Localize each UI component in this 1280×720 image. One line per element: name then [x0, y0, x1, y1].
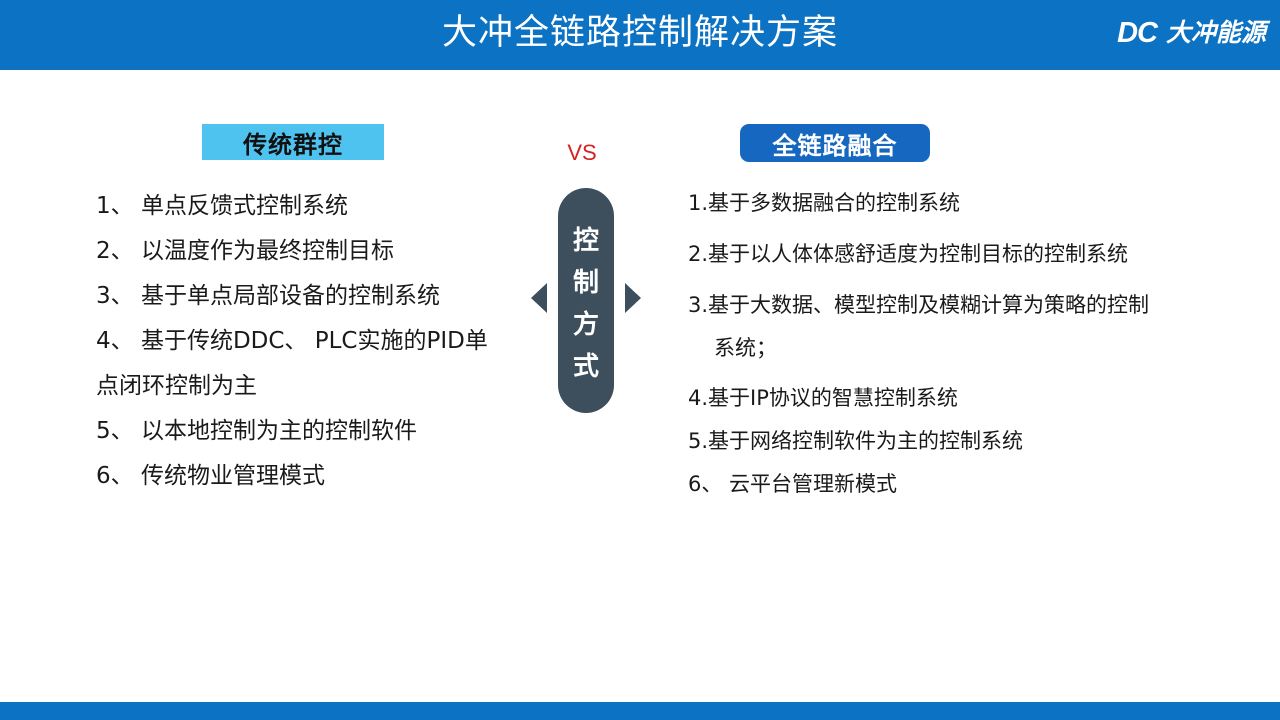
center-divider-group: 控 制 方 式	[526, 188, 648, 413]
right-column-heading: 全链路融合	[740, 124, 930, 162]
list-item: 3、 基于单点局部设备的控制系统	[96, 274, 536, 319]
list-item: 4.基于IP协议的智慧控制系统	[688, 377, 1280, 420]
list-item: 6、 传统物业管理模式	[96, 454, 536, 499]
page-title: 大冲全链路控制解决方案	[0, 7, 1280, 59]
list-item: 2.基于以人体体感舒适度为控制目标的控制系统	[688, 233, 1280, 276]
company-logo: DC 大冲能源	[1117, 16, 1266, 50]
pill-char: 制	[573, 262, 599, 304]
list-item: 1.基于多数据融合的控制系统	[688, 182, 1280, 225]
pill-char: 方	[573, 304, 599, 346]
pill-char: 控	[573, 220, 599, 262]
slide-footer	[0, 702, 1280, 720]
right-arrow-icon	[625, 283, 641, 313]
list-item: 6、 云平台管理新模式	[688, 463, 1280, 506]
left-column-heading: 传统群控	[202, 124, 384, 160]
list-item-continuation: 点闭环控制为主	[96, 364, 536, 409]
list-item: 5.基于网络控制软件为主的控制系统	[688, 420, 1280, 463]
pill-char: 式	[573, 346, 599, 388]
right-column-list: 1.基于多数据融合的控制系统 2.基于以人体体感舒适度为控制目标的控制系统 3.…	[688, 182, 1280, 506]
list-item: 3.基于大数据、模型控制及模糊计算为策略的控制	[688, 284, 1280, 327]
list-item: 5、 以本地控制为主的控制软件	[96, 409, 536, 454]
logo-mark-text: DC	[1117, 16, 1157, 50]
slide-header: 大冲全链路控制解决方案 DC 大冲能源	[0, 0, 1280, 70]
right-column-heading-label: 全链路融合	[773, 126, 898, 161]
list-item: 2、 以温度作为最终控制目标	[96, 229, 536, 274]
versus-label: VS	[560, 140, 604, 166]
slide-canvas: 大冲全链路控制解决方案 DC 大冲能源 传统群控 VS 全链路融合 1、 单点反…	[0, 0, 1280, 720]
left-column-list: 1、 单点反馈式控制系统 2、 以温度作为最终控制目标 3、 基于单点局部设备的…	[96, 184, 536, 499]
left-arrow-icon	[531, 283, 547, 313]
left-column-heading-label: 传统群控	[243, 125, 343, 160]
list-item-continuation: 系统；	[688, 327, 1280, 370]
control-method-pill: 控 制 方 式	[558, 188, 614, 413]
logo-company-name: 大冲能源	[1166, 16, 1266, 50]
list-item: 4、 基于传统DDC、 PLC实施的PID单	[96, 319, 536, 364]
list-item: 1、 单点反馈式控制系统	[96, 184, 536, 229]
